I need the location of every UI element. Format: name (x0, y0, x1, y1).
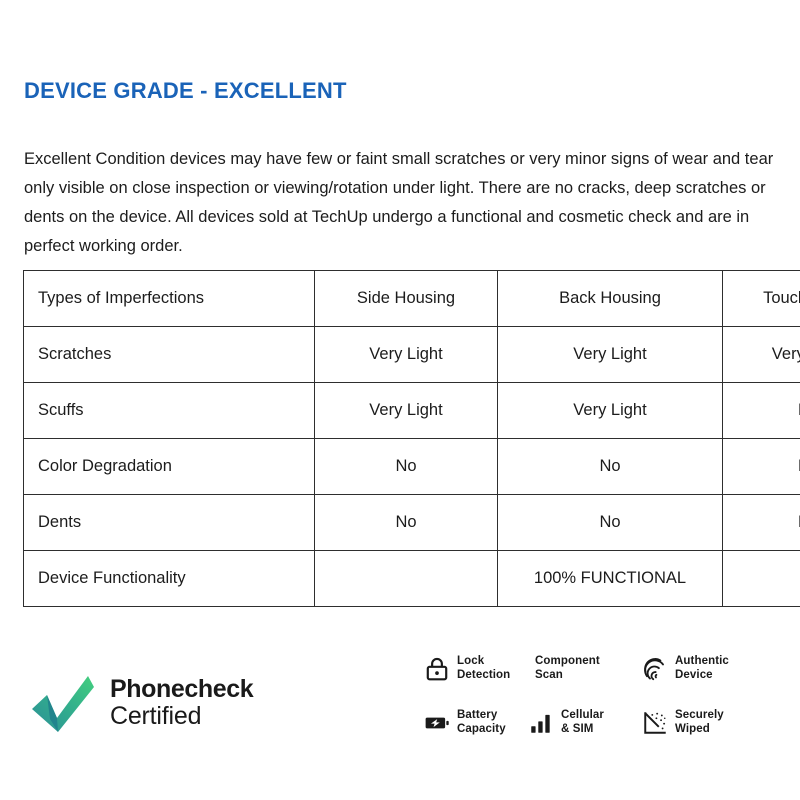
grade-description: Excellent Condition devices may have few… (24, 145, 776, 261)
row-label-dents: Dents (24, 495, 315, 551)
column-header-back-housing: Back Housing (498, 271, 723, 327)
cell-color-degradation-touch-panel: No (723, 439, 800, 495)
cell-scratches-back-housing: Very Light (498, 327, 723, 383)
logo-wordmark: Phonecheck Certified (110, 676, 253, 730)
feature-cellular-sim: Cellular & SIM (528, 709, 642, 737)
table-body: Scratches Very Light Very Light Very Lig… (24, 327, 800, 607)
column-header-touch-panel: Touch Panel (723, 271, 800, 327)
cell-functionality-back-housing: 100% FUNCTIONAL (498, 551, 723, 607)
lock-icon (424, 656, 450, 682)
logo-name-line2: Certified (110, 703, 253, 730)
table-header: Types of Imperfections Side Housing Back… (24, 271, 800, 327)
phonecheck-certified-logo: Phonecheck Certified (30, 672, 253, 734)
page-title: DEVICE GRADE - EXCELLENT (24, 78, 347, 104)
feature-component-scan: Component Scan (528, 655, 642, 683)
row-label-device-functionality: Device Functionality (24, 551, 315, 607)
cell-functionality-touch-panel (723, 551, 800, 607)
table-row: Scratches Very Light Very Light Very Lig… (24, 327, 800, 383)
feature-lock-detection: Lock Detection (424, 655, 528, 683)
table-header-row: Types of Imperfections Side Housing Back… (24, 271, 800, 327)
cell-dents-touch-panel: No (723, 495, 800, 551)
row-label-color-degradation: Color Degradation (24, 439, 315, 495)
checkmark-icon (30, 672, 96, 734)
device-grade-card: DEVICE GRADE - EXCELLENT Excellent Condi… (0, 0, 800, 800)
row-label-scuffs: Scuffs (24, 383, 315, 439)
column-header-side-housing: Side Housing (315, 271, 498, 327)
table-row: Color Degradation No No No (24, 439, 800, 495)
cell-scuffs-touch-panel: No (723, 383, 800, 439)
wipe-icon (642, 710, 668, 736)
feature-battery-capacity: Battery Capacity (424, 709, 528, 737)
row-label-scratches: Scratches (24, 327, 315, 383)
cell-scratches-touch-panel: Very Light (723, 327, 800, 383)
fingerprint-icon (642, 656, 668, 682)
cell-scratches-side-housing: Very Light (315, 327, 498, 383)
table-row: Dents No No No (24, 495, 800, 551)
cell-scuffs-side-housing: Very Light (315, 383, 498, 439)
signal-bars-icon (528, 710, 554, 736)
logo-name-line1: Phonecheck (110, 676, 253, 703)
table-row: Scuffs Very Light Very Light No (24, 383, 800, 439)
feature-badges: Lock Detection Component Scan Authentic (424, 642, 784, 750)
feature-label-securely-wiped: Securely Wiped (675, 709, 724, 737)
cell-functionality-side-housing (315, 551, 498, 607)
battery-icon (424, 710, 450, 736)
feature-label-component-scan: Component Scan (535, 655, 600, 683)
table-row-device-functionality: Device Functionality 100% FUNCTIONAL (24, 551, 800, 607)
cell-color-degradation-back-housing: No (498, 439, 723, 495)
feature-label-lock-detection: Lock Detection (457, 655, 510, 683)
feature-label-battery-capacity: Battery Capacity (457, 709, 506, 737)
column-header-types: Types of Imperfections (24, 271, 315, 327)
feature-authentic-device: Authentic Device (642, 655, 782, 683)
cell-scuffs-back-housing: Very Light (498, 383, 723, 439)
cell-dents-side-housing: No (315, 495, 498, 551)
feature-securely-wiped: Securely Wiped (642, 709, 782, 737)
footer: Phonecheck Certified Lock Detection Comp… (0, 630, 800, 800)
imperfections-table: Types of Imperfections Side Housing Back… (23, 270, 800, 607)
feature-label-authentic-device: Authentic Device (675, 655, 729, 683)
cell-color-degradation-side-housing: No (315, 439, 498, 495)
cell-dents-back-housing: No (498, 495, 723, 551)
feature-label-cellular-sim: Cellular & SIM (561, 709, 604, 737)
